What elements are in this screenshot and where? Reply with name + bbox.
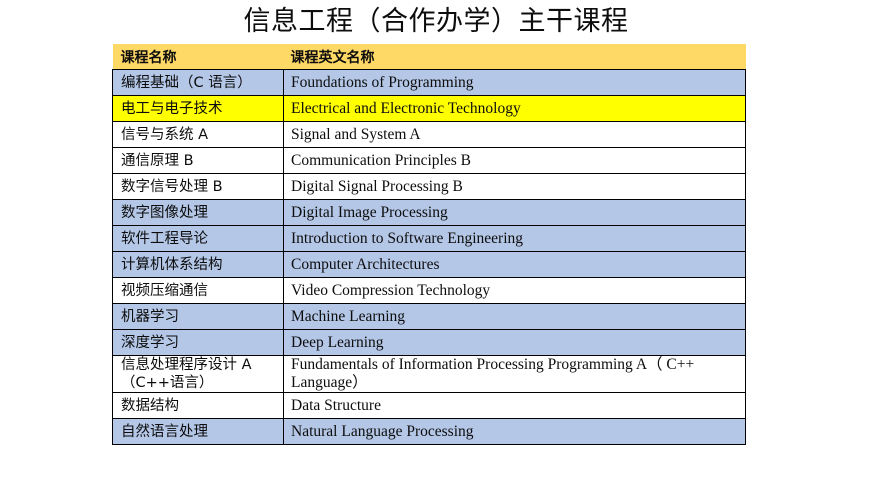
cell-course-name: 自然语言处理: [113, 419, 284, 445]
table-header: 课程名称 课程英文名称: [113, 44, 746, 70]
cell-course-name: 数据结构: [113, 393, 284, 419]
cell-course-english-name: Computer Architectures: [284, 252, 746, 278]
course-table: 课程名称 课程英文名称 编程基础（C 语言）Foundations of Pro…: [112, 44, 746, 445]
cell-course-name: 机器学习: [113, 304, 284, 330]
table-body: 编程基础（C 语言）Foundations of Programming电工与电…: [113, 70, 746, 445]
table-header-row: 课程名称 课程英文名称: [113, 44, 746, 70]
table-row: 计算机体系结构Computer Architectures: [113, 252, 746, 278]
page-title: 信息工程（合作办学）主干课程: [0, 6, 872, 38]
cell-course-name: 数字信号处理 B: [113, 174, 284, 200]
table-row: 视频压缩通信Video Compression Technology: [113, 278, 746, 304]
cell-course-english-name: Communication Principles B: [284, 148, 746, 174]
cell-course-english-name: Signal and System A: [284, 122, 746, 148]
column-header-course-name: 课程名称: [113, 44, 284, 70]
cell-course-name: 信息处理程序设计 A（C++语言）: [113, 356, 284, 393]
cell-course-name: 编程基础（C 语言）: [113, 70, 284, 96]
table-row: 编程基础（C 语言）Foundations of Programming: [113, 70, 746, 96]
cell-course-english-name: Fundamentals of Information Processing P…: [284, 356, 746, 393]
table-row: 机器学习Machine Learning: [113, 304, 746, 330]
column-header-course-english-name: 课程英文名称: [284, 44, 746, 70]
cell-course-name: 电工与电子技术: [113, 96, 284, 122]
cell-course-english-name: Data Structure: [284, 393, 746, 419]
table-row: 信息处理程序设计 A（C++语言）Fundamentals of Informa…: [113, 356, 746, 393]
table-row: 电工与电子技术Electrical and Electronic Technol…: [113, 96, 746, 122]
cell-course-english-name: Digital Image Processing: [284, 200, 746, 226]
table-row: 自然语言处理Natural Language Processing: [113, 419, 746, 445]
table-row: 数字信号处理 BDigital Signal Processing B: [113, 174, 746, 200]
cell-course-name: 信号与系统 A: [113, 122, 284, 148]
cell-course-english-name: Natural Language Processing: [284, 419, 746, 445]
cell-course-name: 通信原理 B: [113, 148, 284, 174]
cell-course-english-name: Video Compression Technology: [284, 278, 746, 304]
table-row: 数据结构Data Structure: [113, 393, 746, 419]
table-row: 通信原理 BCommunication Principles B: [113, 148, 746, 174]
cell-course-name: 软件工程导论: [113, 226, 284, 252]
table-row: 数字图像处理Digital Image Processing: [113, 200, 746, 226]
table-row: 信号与系统 ASignal and System A: [113, 122, 746, 148]
cell-course-english-name: Electrical and Electronic Technology: [284, 96, 746, 122]
cell-course-name: 数字图像处理: [113, 200, 284, 226]
cell-course-name: 深度学习: [113, 330, 284, 356]
cell-course-name: 视频压缩通信: [113, 278, 284, 304]
cell-course-english-name: Deep Learning: [284, 330, 746, 356]
table-row: 软件工程导论Introduction to Software Engineeri…: [113, 226, 746, 252]
cell-course-english-name: Foundations of Programming: [284, 70, 746, 96]
cell-course-english-name: Machine Learning: [284, 304, 746, 330]
cell-course-english-name: Introduction to Software Engineering: [284, 226, 746, 252]
table-row: 深度学习Deep Learning: [113, 330, 746, 356]
cell-course-name: 计算机体系结构: [113, 252, 284, 278]
slide-canvas: 信息工程（合作办学）主干课程 课程名称 课程英文名称 编程基础（C 语言）Fou…: [0, 0, 872, 483]
cell-course-english-name: Digital Signal Processing B: [284, 174, 746, 200]
